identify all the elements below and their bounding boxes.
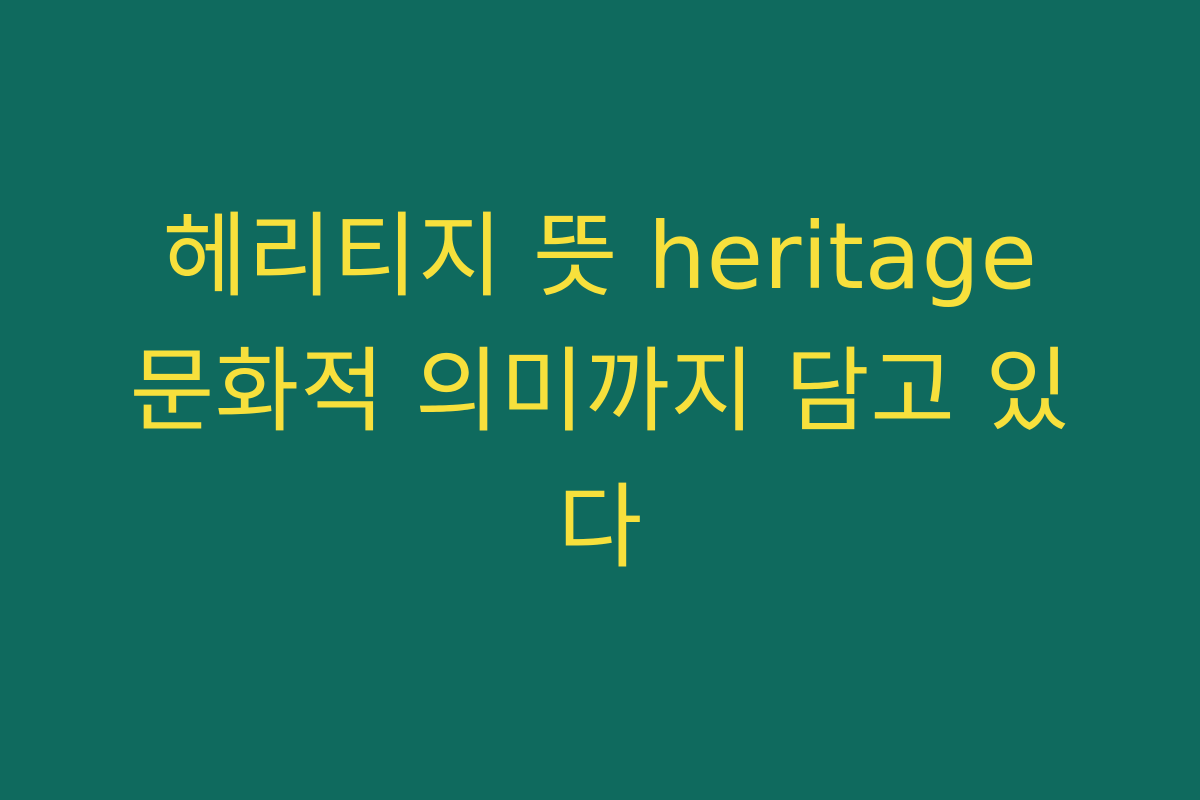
headline-line-3: 다: [30, 460, 1170, 595]
text-card: 헤리티지 뜻 heritage 문화적 의미까지 담고 있 다: [0, 0, 1200, 800]
headline-line-1: 헤리티지 뜻 heritage: [30, 189, 1170, 324]
headline-line-2: 문화적 의미까지 담고 있: [30, 324, 1170, 459]
headline-block: 헤리티지 뜻 heritage 문화적 의미까지 담고 있 다: [30, 189, 1170, 595]
